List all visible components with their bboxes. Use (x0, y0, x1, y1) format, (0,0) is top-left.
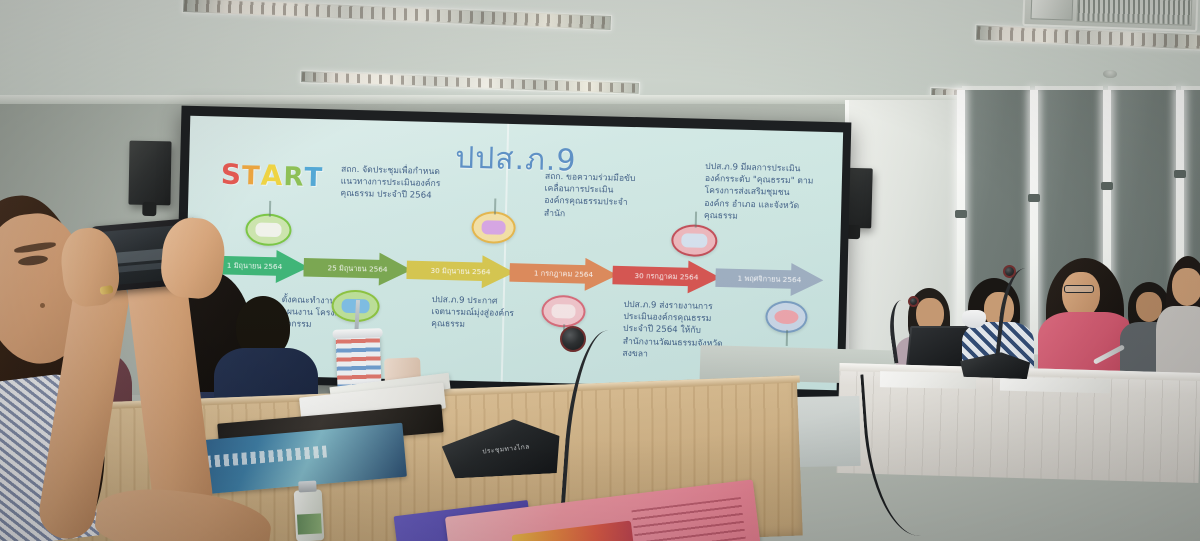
timeline-date-6: 1 พฤศจิกายน 2564 (737, 274, 801, 285)
slide-text-4: ปปส.ภ.9 ประกาศเจตนารมณ์มุ่งสู่องค์กรคุณธ… (431, 294, 532, 333)
start-letter-s: S (221, 162, 242, 189)
blind-clip (1028, 194, 1040, 202)
face-mask (962, 310, 986, 328)
start-letter-t: T (242, 164, 260, 189)
blind-clip (955, 210, 967, 218)
brochure-chart (512, 521, 635, 541)
document-icon (245, 213, 292, 246)
small-glass-bottle[interactable] (294, 489, 325, 541)
timeline-arrow-2: 25 มิถุนายน 2564 (303, 251, 412, 287)
award-icon (671, 224, 718, 257)
report-icon (541, 295, 586, 328)
left-wall-speaker-icon (128, 141, 171, 206)
slide-text-3: ปปส.ภ.9 มีผลการประเมินองค์กรระดับ "คุณธร… (704, 161, 818, 225)
timeline-date-1: 1 มิถุนายน 2564 (227, 261, 283, 272)
timeline-arrow-6: 1 พฤศจิกายน 2564 (715, 261, 824, 297)
timeline-arrow-5: 30 กรกฎาคม 2564 (612, 259, 721, 295)
target-icon (765, 300, 808, 333)
timeline-arrow-3: 30 มิถุนายน 2564 (406, 253, 515, 289)
meeting-room-screenshot: ปปส.ภ.9 S T A R T สถก. จัดประชุมเพื่อกำห… (0, 0, 1200, 541)
eyeglasses-icon (1064, 285, 1094, 293)
timeline-date-4: 1 กรกฎาคม 2564 (534, 268, 594, 279)
presentation-icon (471, 211, 516, 244)
timeline-arrows: 1 มิถุนายน 2564 25 มิถุนายน 2564 30 มิถุ… (200, 248, 841, 298)
slide-text-2: สถก. ขอความร่วมมือขับเคลื่อนการประเมินอง… (544, 171, 637, 222)
start-logo: S T A R T (221, 151, 334, 192)
desk-mic-head[interactable] (560, 326, 586, 352)
start-letter-t2: T (304, 166, 322, 191)
timeline-date-5: 30 กรกฎาคม 2564 (634, 271, 698, 282)
timeline-date-2: 25 มิถุนายน 2564 (327, 263, 387, 274)
smoke-detector-icon (1103, 70, 1117, 78)
timeline-date-3: 30 มิถุนายน 2564 (430, 266, 490, 277)
start-letter-r: R (283, 165, 304, 190)
timeline-arrow-4: 1 กรกฎาคม 2564 (509, 256, 618, 292)
panel-mic-head-2 (908, 296, 919, 307)
panel-mic-head-1 (1003, 265, 1016, 278)
start-letter-a: A (260, 163, 282, 190)
blind-clip (1174, 170, 1186, 178)
foreground-mole (40, 303, 45, 308)
brochure-text-lines (631, 497, 745, 541)
panel-paper-2 (1000, 377, 1110, 394)
blind-clip (1101, 182, 1113, 190)
slide-text-1: สถก. จัดประชุมเพื่อกำหนดแนวทางการประเมิน… (340, 164, 449, 203)
mic-cable (860, 370, 941, 539)
